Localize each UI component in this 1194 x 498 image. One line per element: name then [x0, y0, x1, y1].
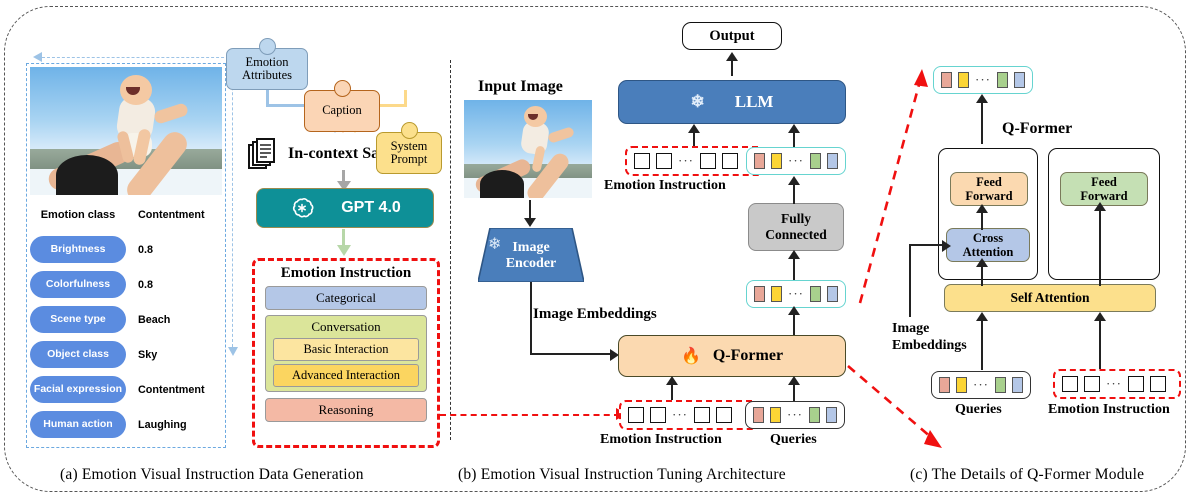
attr-header-key: Emotion class	[30, 209, 126, 221]
arrow-head-icon	[942, 240, 951, 252]
instruction-categorical[interactable]: Categorical	[265, 286, 427, 310]
visual-token	[754, 286, 765, 302]
output-label: Output	[709, 28, 754, 45]
ellipsis: ···	[672, 411, 688, 419]
panel-divider-a-b	[450, 60, 451, 440]
arrow-head-icon	[976, 204, 988, 213]
feed-forward-left: Feed Forward	[950, 172, 1028, 206]
emotion-instruction-label-lower: Emotion Instruction	[600, 432, 722, 448]
emotion-instruction-panel: Emotion Instruction Categorical Conversa…	[252, 258, 440, 448]
cross-attention: Cross Attention	[946, 228, 1030, 262]
gpt-label: GPT 4.0	[341, 199, 401, 217]
instruction-token	[700, 153, 716, 169]
attr-header-value: Contentment	[138, 209, 205, 221]
image-encoder-block: ❄ Image Encoder	[478, 228, 584, 282]
arrow-head-icon	[788, 306, 800, 315]
arrow-head-icon	[726, 52, 738, 61]
arrow-head-icon	[337, 245, 351, 256]
feedback-arrow-right-vert	[232, 57, 233, 347]
puzzle-label-emotion-attributes: Emotion Attributes	[242, 56, 292, 83]
puzzle-label-system-prompt: System Prompt	[391, 140, 428, 167]
attr-key-brightness: Brightness	[30, 236, 126, 263]
query-token	[770, 407, 781, 423]
table-row: Object class Sky	[30, 337, 222, 372]
query-token	[1012, 377, 1023, 393]
qformer-label: Q-Former	[713, 347, 783, 365]
instruction-token	[628, 407, 644, 423]
attr-key-facial-expression: Facial expression	[30, 376, 126, 403]
puzzle-knob-icon	[259, 38, 276, 55]
arrow-ff-to-output-tokens	[981, 100, 983, 144]
attr-value-scene-type: Beach	[138, 314, 170, 326]
arrow-tokens-to-fc	[793, 256, 795, 280]
arrow-head-icon	[788, 124, 800, 133]
feedback-arrow-top	[42, 57, 234, 58]
attr-key-human-action: Human action	[30, 411, 126, 438]
query-token	[826, 407, 837, 423]
input-photo	[464, 100, 592, 198]
table-header-row: Emotion class Contentment	[30, 197, 222, 232]
cross-attention-label: Cross Attention	[963, 231, 1014, 259]
self-attention: Self Attention	[944, 284, 1156, 312]
panel-a-caption: (a) Emotion Visual Instruction Data Gene…	[60, 466, 364, 484]
attr-key-scene-type: Scene type	[30, 306, 126, 333]
visual-token	[810, 286, 821, 302]
query-token	[939, 377, 950, 393]
qformer-detail-output-tokens[interactable]: ···	[933, 66, 1033, 94]
instruction-token	[656, 153, 672, 169]
qformer-output-tokens[interactable]: ···	[746, 280, 846, 308]
documents-icon	[248, 137, 282, 171]
arrow-head-icon	[788, 250, 800, 259]
emotion-instruction-label-upper: Emotion Instruction	[604, 178, 726, 194]
arrow-head-icon	[524, 218, 536, 227]
instruction-advanced-interaction[interactable]: Advanced Interaction	[273, 364, 419, 387]
instruction-token	[1062, 376, 1078, 392]
arrow-self-to-ff-right	[1099, 208, 1101, 286]
panel-b-caption: (b) Emotion Visual Instruction Tuning Ar…	[458, 466, 786, 484]
visual-token	[771, 286, 782, 302]
image-embeddings-label-c: Image Embeddings	[892, 320, 967, 354]
arrow-ei-to-self-attention	[1099, 318, 1101, 370]
visual-token	[810, 153, 821, 169]
query-token	[956, 377, 967, 393]
feedback-arrow-down-head	[228, 347, 238, 356]
instruction-reasoning[interactable]: Reasoning	[265, 398, 427, 422]
instruction-token	[1128, 376, 1144, 392]
arrow-qformer-to-tokens	[793, 312, 795, 336]
input-image-label: Input Image	[478, 78, 563, 96]
gpt-4-box[interactable]: GPT 4.0	[256, 188, 434, 228]
arrow-head-icon	[788, 376, 800, 385]
visual-token	[771, 153, 782, 169]
panel-c-caption: (c) The Details of Q-Former Module	[910, 466, 1144, 484]
image-encoder-label: Image Encoder	[478, 240, 584, 272]
arrow-head-icon	[976, 94, 988, 103]
arrow-cross-to-ff	[981, 210, 983, 230]
instruction-token	[650, 407, 666, 423]
attr-value-brightness: 0.8	[138, 244, 153, 256]
attr-value-object-class: Sky	[138, 349, 157, 361]
emotion-instruction-tokens-upper[interactable]: ···	[625, 146, 765, 176]
feed-forward-right: Feed Forward	[1060, 172, 1148, 206]
instruction-basic-interaction[interactable]: Basic Interaction	[273, 338, 419, 361]
table-row: Brightness 0.8	[30, 232, 222, 267]
visual-token	[827, 286, 838, 302]
arrow-head-icon	[976, 258, 988, 267]
queries-tokens[interactable]: ···	[745, 401, 845, 429]
image-embeddings-label: Image Embeddings	[533, 306, 657, 323]
fully-connected-block: Fully Connected	[748, 203, 844, 251]
arrow-photo-to-encoder	[529, 200, 531, 220]
puzzle-label-caption: Caption	[322, 104, 362, 118]
fire-icon: 🔥	[681, 346, 701, 366]
visual-token	[941, 72, 952, 88]
table-row: Human action Laughing	[30, 407, 222, 442]
output-box: Output	[682, 22, 782, 50]
attr-value-facial-expression: Contentment	[138, 384, 205, 396]
instruction-token	[722, 153, 738, 169]
arrow-head-icon	[1094, 312, 1106, 321]
ellipsis: ···	[788, 157, 804, 165]
emotion-attributes-table: Emotion class Contentment Brightness 0.8…	[30, 197, 222, 444]
queries-label-c: Queries	[955, 402, 1002, 418]
emotion-instruction-tokens-c[interactable]: ···	[1053, 369, 1181, 399]
table-row: Scene type Beach	[30, 302, 222, 337]
query-token	[809, 407, 820, 423]
feedback-arrow-head	[33, 52, 42, 62]
query-token	[753, 407, 764, 423]
qformer-right-column	[1048, 148, 1160, 280]
table-row: Colorfulness 0.8	[30, 267, 222, 302]
ellipsis: ···	[787, 411, 803, 419]
instruction-token	[694, 407, 710, 423]
attr-key-colorfulness: Colorfulness	[30, 271, 126, 298]
ellipsis: ···	[788, 290, 804, 298]
puzzle-knob-icon	[401, 122, 418, 139]
instruction-token	[1084, 376, 1100, 392]
visual-tokens-upper[interactable]: ···	[746, 147, 846, 175]
instruction-conversation[interactable]: Conversation	[266, 316, 426, 338]
arrow-head-icon	[976, 312, 988, 321]
visual-token	[827, 153, 838, 169]
emotion-instruction-label-c: Emotion Instruction	[1048, 402, 1170, 418]
qformer-detail-title: Q-Former	[1002, 120, 1072, 138]
ellipsis: ···	[678, 157, 694, 165]
red-link-a-to-b	[440, 414, 620, 416]
fully-connected-label: Fully Connected	[765, 211, 827, 243]
snowflake-icon: ❄	[691, 92, 705, 112]
self-attention-label: Self Attention	[1010, 291, 1089, 305]
instruction-token	[716, 407, 732, 423]
arrow-head-icon	[788, 176, 800, 185]
arrow-encoder-right	[530, 353, 612, 355]
query-token	[995, 377, 1006, 393]
llm-label: LLM	[735, 92, 774, 112]
arrow-head-icon	[1094, 202, 1106, 211]
instruction-conversation-group: Conversation Basic Interaction Advanced …	[265, 315, 427, 392]
arrow-self-to-cross	[981, 264, 983, 286]
queries-tokens-c[interactable]: ···	[931, 371, 1031, 399]
llm-block: ❄ LLM	[618, 80, 846, 124]
arrow-fc-to-tokens	[793, 182, 795, 204]
instruction-token	[1150, 376, 1166, 392]
puzzle-emotion-attributes[interactable]: Emotion Attributes	[226, 48, 308, 90]
attr-key-object-class: Object class	[30, 341, 126, 368]
ellipsis: ···	[1106, 380, 1122, 388]
openai-logo-icon	[289, 195, 315, 221]
queries-label-b: Queries	[770, 432, 817, 448]
puzzle-caption[interactable]: Caption	[304, 90, 380, 132]
sample-photo	[30, 67, 222, 195]
arrow-queries-to-self-attention	[981, 318, 983, 370]
feed-forward-right-label: Feed Forward	[1080, 175, 1127, 203]
feed-forward-left-label: Feed Forward	[965, 175, 1012, 203]
ellipsis: ···	[975, 76, 991, 84]
emotion-instruction-title: Emotion Instruction	[255, 265, 437, 282]
arrow-head-icon	[666, 376, 678, 385]
qformer-block: 🔥 Q-Former	[618, 335, 846, 377]
emotion-instruction-tokens-lower[interactable]: ···	[619, 400, 759, 430]
puzzle-system-prompt[interactable]: System Prompt	[376, 132, 442, 174]
arrow-head-icon	[688, 124, 700, 133]
visual-token	[754, 153, 765, 169]
visual-token	[958, 72, 969, 88]
instruction-token	[634, 153, 650, 169]
visual-token	[997, 72, 1008, 88]
ellipsis: ···	[973, 381, 989, 389]
attr-value-human-action: Laughing	[138, 419, 187, 431]
table-row: Facial expression Contentment	[30, 372, 222, 407]
puzzle-knob-icon	[334, 80, 351, 97]
visual-token	[1014, 72, 1025, 88]
arrow-img-emb-vertical	[909, 245, 911, 317]
attr-value-colorfulness: 0.8	[138, 279, 153, 291]
